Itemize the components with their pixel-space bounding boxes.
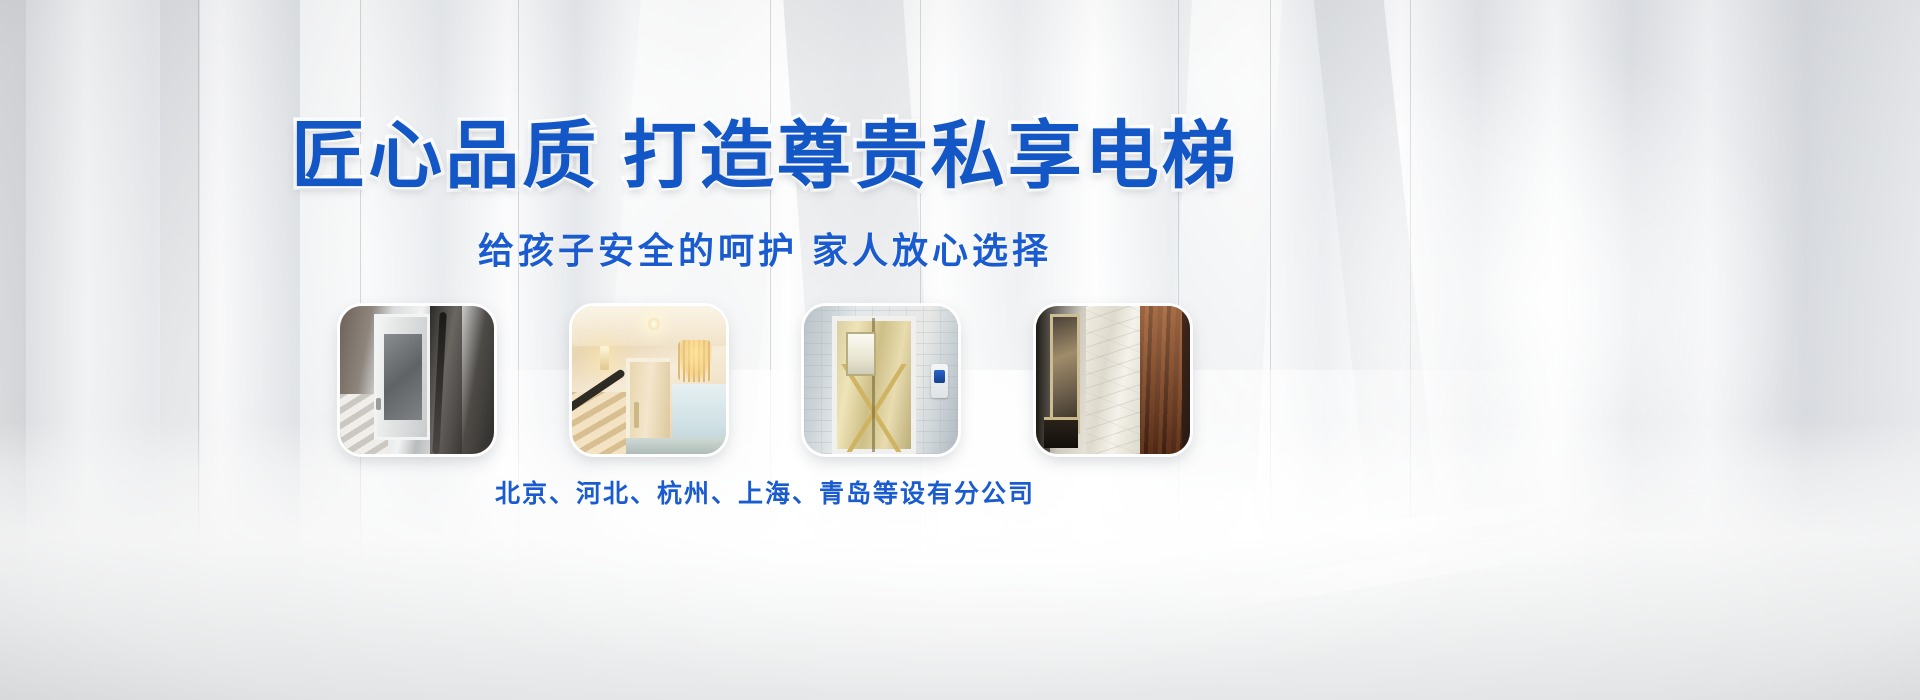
banner-headline: 匠心品质 打造尊贵私享电梯 (0, 96, 1530, 203)
branch-offices-text: 北京、河北、杭州、上海、青岛等设有分公司 (0, 474, 1530, 510)
banner-content: 匠心品质 打造尊贵私享电梯 给孩子安全的呵护 家人放心选择 (0, 0, 1920, 700)
thumbnail-silver-elevator-beside-staircase[interactable] (340, 306, 494, 454)
thumbnail-gallery (0, 306, 1530, 454)
photo-scene (1036, 306, 1190, 454)
wood-cabin-shading (1140, 306, 1182, 454)
elevator-glass-detail (384, 334, 422, 420)
thumbnail-marble-lobby-wood-cabin-elevator[interactable] (1036, 306, 1190, 454)
photo-scene (340, 306, 494, 454)
control-panel-screen-detail (934, 370, 945, 383)
banner-subheadline: 给孩子安全的呵护 家人放心选择 (0, 222, 1530, 274)
thumbnail-beige-hallway-home-elevator[interactable] (572, 306, 726, 454)
console-table-detail (1044, 417, 1078, 448)
wall-sconce-detail (600, 346, 609, 370)
call-button-detail (376, 398, 381, 410)
marble-wall-detail (1086, 306, 1144, 454)
mirror-panel-detail (1050, 314, 1080, 434)
photo-scene (572, 306, 726, 454)
door-slot-detail (634, 402, 639, 428)
photo-scene (804, 306, 958, 454)
ceiling-downlight-detail (648, 318, 660, 330)
interior-window-detail (846, 332, 876, 376)
hero-banner: 匠心品质 打造尊贵私享电梯 给孩子安全的呵护 家人放心选择 (0, 0, 1920, 700)
thumbnail-golden-glass-elevator-door[interactable] (804, 306, 958, 454)
chandelier-detail (678, 340, 712, 382)
floor-detail (626, 438, 726, 454)
